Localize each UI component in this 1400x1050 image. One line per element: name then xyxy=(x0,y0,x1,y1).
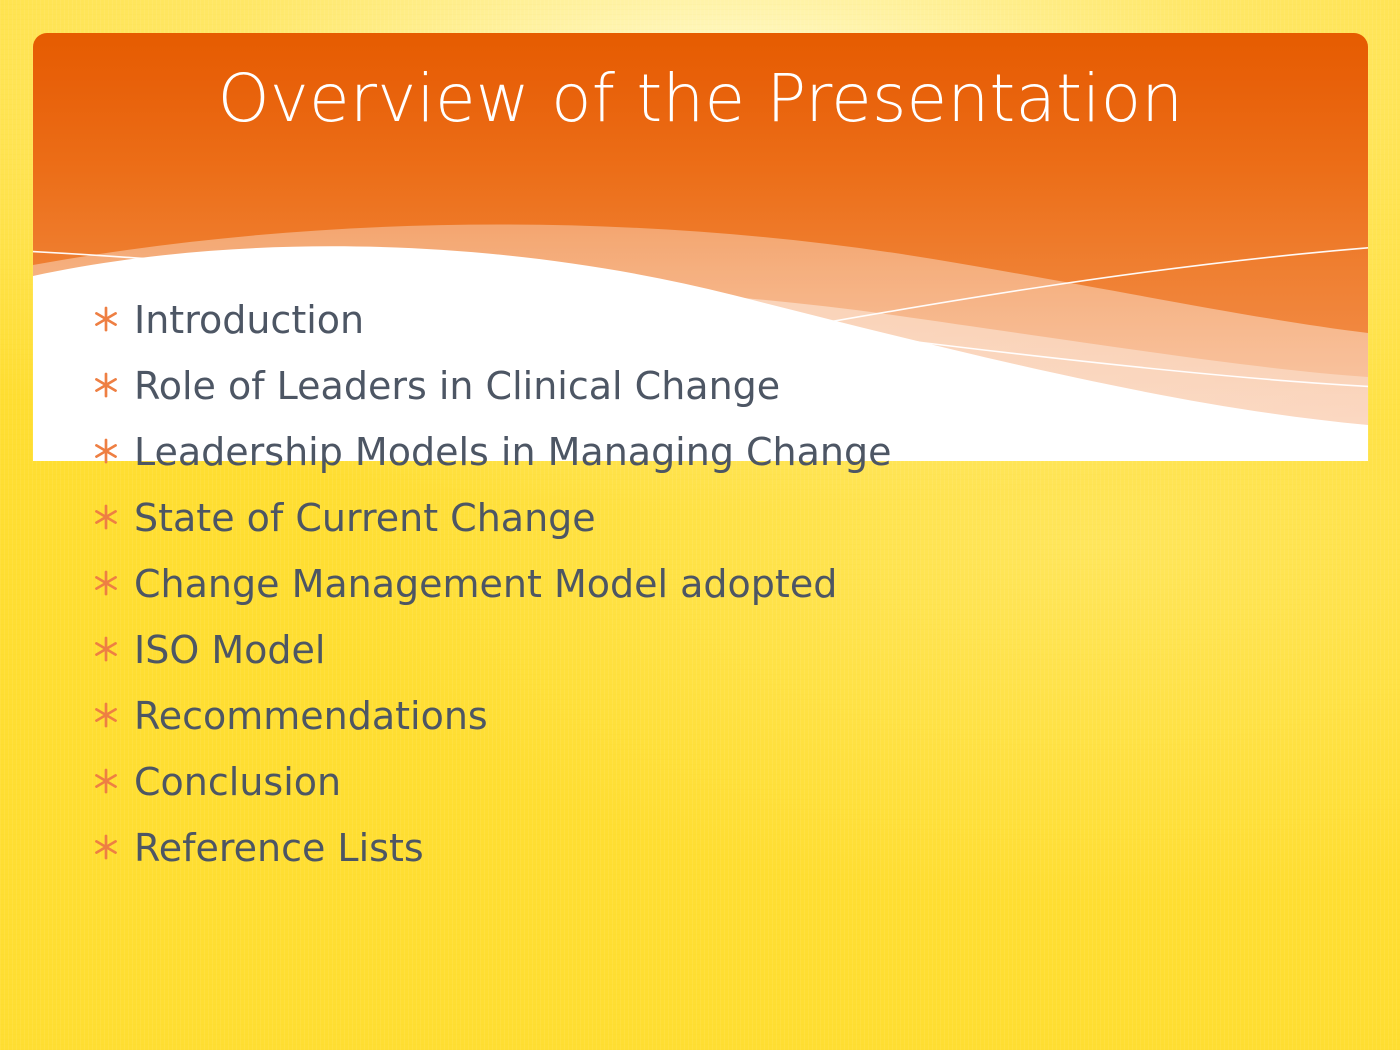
six-point-asterisk-icon xyxy=(88,295,134,333)
list-item[interactable]: Conclusion xyxy=(88,757,1308,823)
six-point-asterisk-icon xyxy=(88,823,134,861)
list-item[interactable]: Leadership Models in Managing Change xyxy=(88,427,1308,493)
list-item-label: State of Current Change xyxy=(134,499,596,537)
six-point-asterisk-icon xyxy=(88,691,134,729)
list-item-label: Recommendations xyxy=(134,697,488,735)
list-item-label: Leadership Models in Managing Change xyxy=(134,433,892,471)
list-item-label: Change Management Model adopted xyxy=(134,565,837,603)
list-item[interactable]: ISO Model xyxy=(88,625,1308,691)
list-item[interactable]: State of Current Change xyxy=(88,493,1308,559)
six-point-asterisk-icon xyxy=(88,427,134,465)
six-point-asterisk-icon xyxy=(88,493,134,531)
list-item-label: Reference Lists xyxy=(134,829,424,867)
slide-title: Overview of the Presentation xyxy=(33,55,1368,143)
list-item[interactable]: Change Management Model adopted xyxy=(88,559,1308,625)
six-point-asterisk-icon xyxy=(88,757,134,795)
list-item-label: Role of Leaders in Clinical Change xyxy=(134,367,780,405)
list-item-label: Conclusion xyxy=(134,763,341,801)
list-item[interactable]: Role of Leaders in Clinical Change xyxy=(88,361,1308,427)
six-point-asterisk-icon xyxy=(88,625,134,663)
presentation-slide: Overview of the Presentation Introductio… xyxy=(0,0,1400,1050)
bullet-list: Introduction Role of Leaders in Clinical… xyxy=(88,295,1308,889)
list-item[interactable]: Recommendations xyxy=(88,691,1308,757)
list-item-label: ISO Model xyxy=(134,631,325,669)
list-item-label: Introduction xyxy=(134,301,364,339)
list-item[interactable]: Reference Lists xyxy=(88,823,1308,889)
six-point-asterisk-icon xyxy=(88,559,134,597)
six-point-asterisk-icon xyxy=(88,361,134,399)
list-item[interactable]: Introduction xyxy=(88,295,1308,361)
